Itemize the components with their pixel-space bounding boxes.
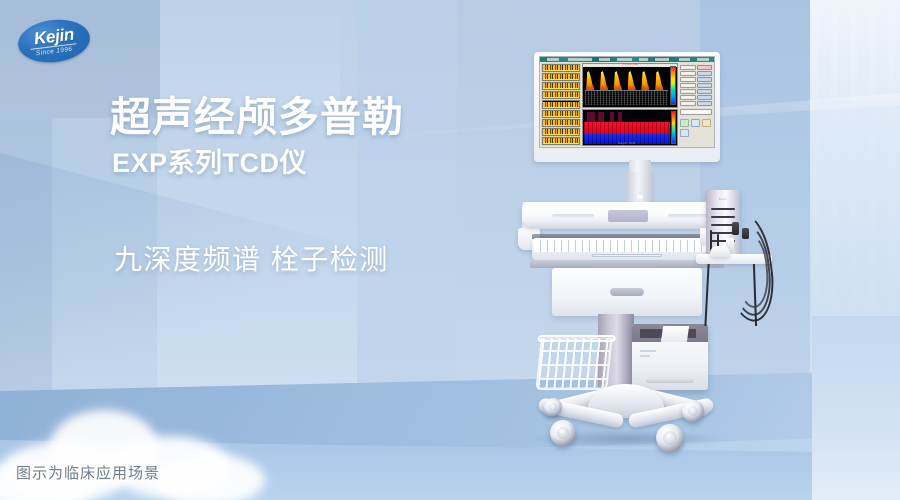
control-value-field[interactable]: [680, 109, 712, 115]
mmode-red-band: [584, 122, 670, 133]
keyboard-spacebar[interactable]: [592, 254, 662, 257]
print-icon[interactable]: [691, 119, 700, 127]
drawer-handle[interactable]: [610, 288, 644, 296]
banner-stage: Kejin Since 1996 超声经颅多普勒 EXP系列TCD仪 九深度频谱…: [0, 0, 900, 500]
monitor-body: TCD SPECTRUM: [540, 62, 714, 147]
wire-basket-icon[interactable]: [535, 338, 612, 390]
cart-base: [536, 384, 714, 440]
depth-channel-6: [542, 110, 580, 118]
cloud-icon: [0, 392, 290, 500]
page-title: 超声经颅多普勒: [110, 97, 404, 138]
caster-wheel-icon-3: [682, 400, 704, 422]
software-control-panel[interactable]: [679, 63, 713, 146]
spectrum-title: TCD SPECTRUM: [583, 64, 677, 67]
spectrum-waveform: [585, 68, 668, 90]
worktop-groove-left: [552, 214, 594, 218]
caster-wheel-icon-1: [550, 420, 576, 446]
printer-module-icon[interactable]: [632, 324, 708, 390]
caster-wheel-icon-4: [544, 398, 562, 416]
depth-channel-8: [542, 128, 580, 136]
printer-vent-2: [640, 355, 650, 357]
doppler-spectrum-display[interactable]: TCD SPECTRUM: [582, 63, 678, 108]
feature-tagline: 九深度频谱 栓子检测: [114, 246, 389, 274]
worktop-pad: [608, 210, 648, 222]
keyboard-tray[interactable]: [532, 238, 722, 260]
settings-icon[interactable]: [680, 129, 689, 137]
depth-channel-1: [542, 64, 580, 72]
disclaimer-footnote: 图示为临床应用场景: [16, 462, 160, 483]
report-icon[interactable]: [702, 119, 711, 127]
product-model-subtitle: EXP系列TCD仪: [112, 150, 307, 177]
background-wedge-top-mid: [160, 0, 340, 106]
basket-body: [535, 338, 612, 390]
keyboard-shelf: [530, 260, 724, 268]
depth-channel-3: [542, 82, 580, 90]
depth-channel-7: [542, 119, 580, 127]
spectrum-reverse-flow-noise: [585, 90, 668, 105]
background-right-shelf-plane: [812, 316, 900, 500]
depth-channel-4: [542, 91, 580, 99]
printer-output-tray: [646, 379, 694, 383]
shelf-leg-left: [704, 264, 709, 326]
background-right-band: [812, 100, 900, 316]
control-icon-grid[interactable]: [680, 119, 712, 137]
main-display-column: TCD SPECTRUM: [582, 63, 678, 146]
basket-rim: [537, 335, 616, 342]
software-menubar[interactable]: [540, 57, 714, 62]
caster-wheel-icon-2: [656, 424, 684, 452]
kejin-oval-logo[interactable]: Kejin Since 1996: [18, 20, 90, 62]
monitor-chin: Kejin TCD: [540, 139, 714, 146]
drawer[interactable]: [552, 268, 702, 316]
depth-channel-2: [542, 73, 580, 81]
keyboard-keys[interactable]: [534, 240, 720, 252]
monitor-screen: TCD SPECTRUM: [539, 56, 715, 148]
probe-rack-label: Kejin: [706, 197, 740, 201]
printer-paper: [661, 326, 689, 342]
depth-channel-5: [542, 100, 580, 108]
tcd-cart-device: TCD SPECTRUM: [510, 52, 770, 472]
printer-vent-1: [640, 350, 656, 352]
doppler-probe-icon-4[interactable]: [700, 228, 706, 246]
worktop-groove-right: [668, 214, 710, 218]
save-icon[interactable]: [680, 119, 689, 127]
lcd-monitor-icon[interactable]: TCD SPECTRUM: [534, 52, 720, 162]
nine-depth-spectrum-column[interactable]: [541, 63, 581, 146]
spectrum-color-scale: [670, 66, 676, 105]
monitor-brand-label: Kejin TCD: [618, 141, 635, 145]
